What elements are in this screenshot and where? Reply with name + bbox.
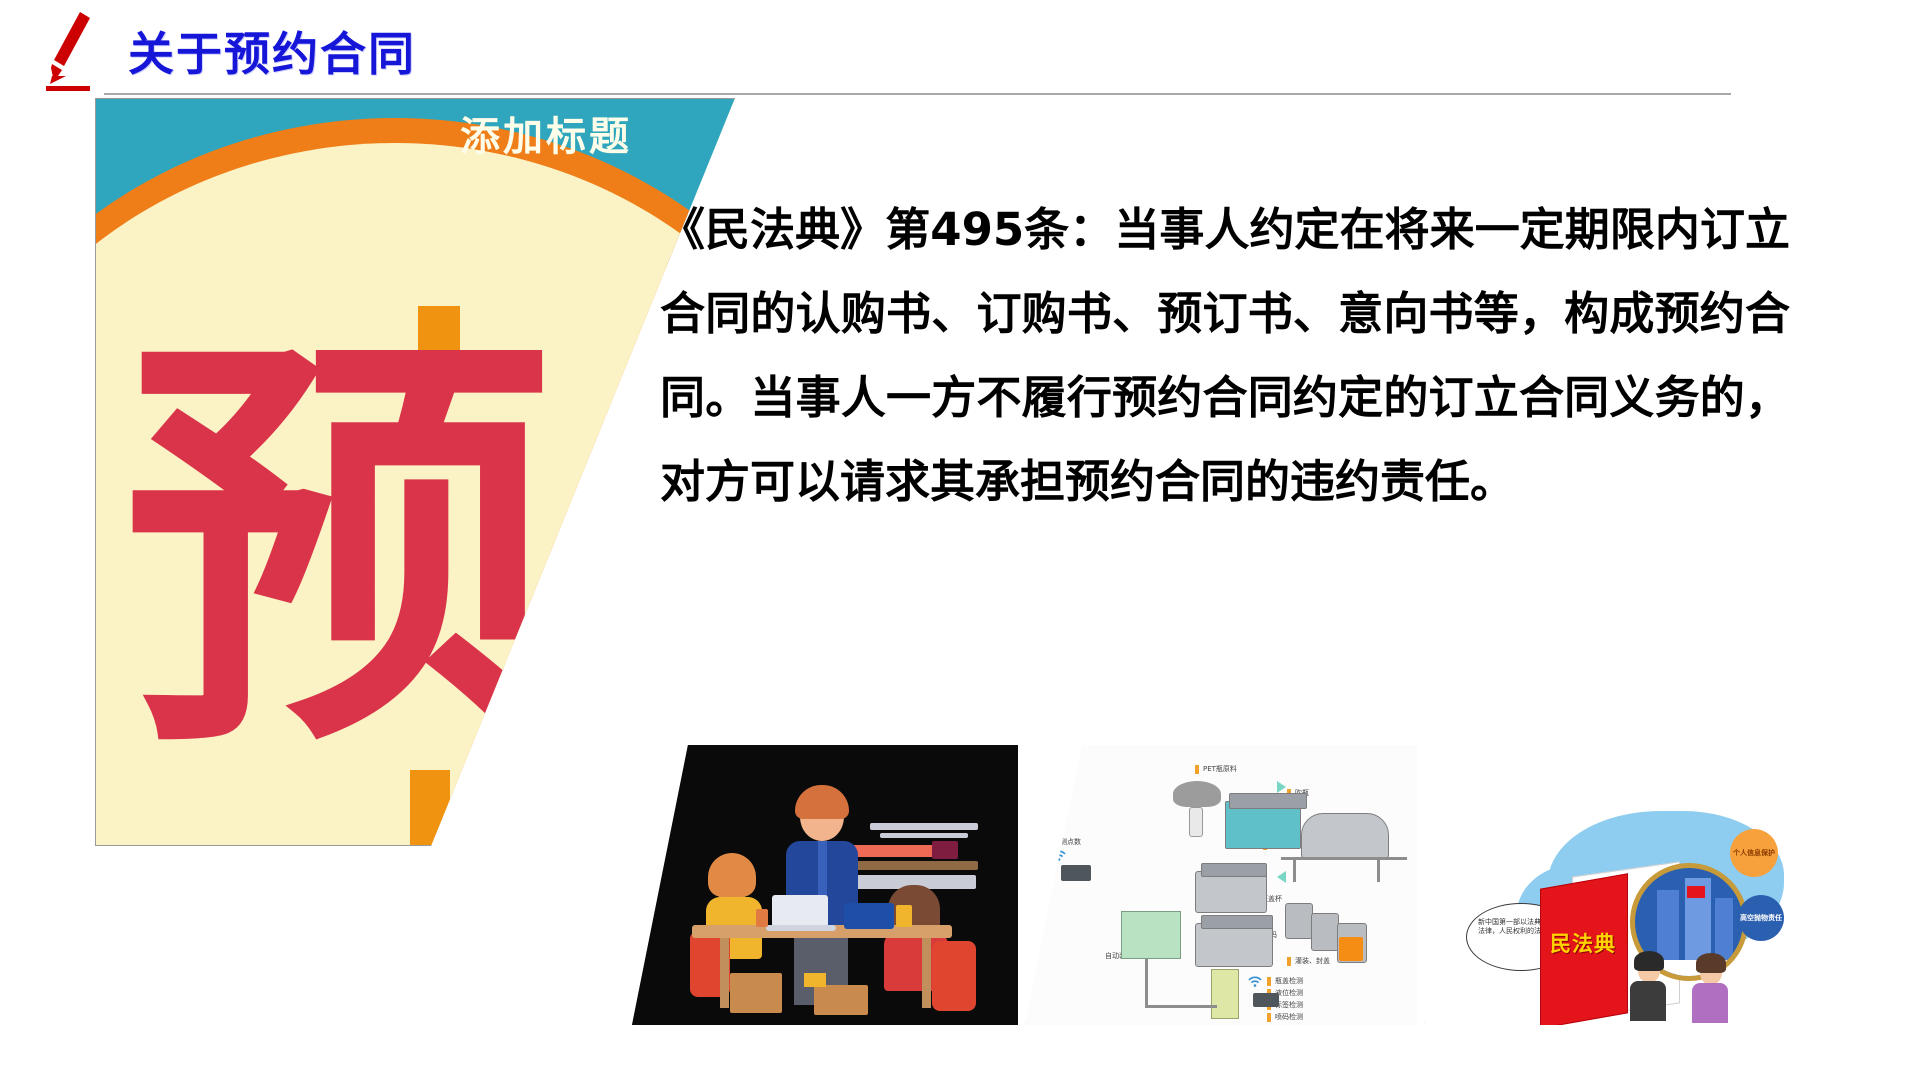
photo1-tablet	[844, 903, 894, 929]
photo3-person-right-hair	[1696, 953, 1726, 973]
photo2-camera-right	[1253, 993, 1279, 1007]
photo2-tank-2	[1311, 913, 1339, 951]
photo2-labeler-top	[1201, 863, 1267, 877]
photo2-label-inspect-point: 不检检测点数	[1039, 837, 1091, 847]
photo2-palletizer	[1121, 911, 1181, 959]
photo2-arrow-1	[1277, 781, 1286, 793]
photo2-bottle-icon	[1189, 807, 1203, 837]
photo2-line-across	[1145, 1005, 1217, 1008]
photo2-bullet-fill	[1287, 957, 1291, 966]
photo1-laptop	[772, 895, 828, 927]
photo3-badge-falling-object: 高空抛物责任	[1738, 895, 1784, 941]
photo2-camera-left	[1061, 865, 1091, 881]
photo1-desk-leg-left	[720, 938, 729, 1008]
photo2-label-fill: 灌装、封盖	[1295, 956, 1330, 966]
photo2-conveyor-tunnel	[1301, 813, 1389, 859]
photo2-capper	[1195, 923, 1273, 967]
photo3-badge-privacy: 个人信息保护	[1730, 829, 1778, 877]
photo2-wifi-icon-right	[1247, 975, 1263, 987]
photo2-blow-molder-top	[1229, 793, 1307, 809]
photo3-person-right-body	[1692, 983, 1728, 1023]
photo1-pen-holder	[756, 909, 768, 927]
photo2-bullet-cap-insp	[1267, 977, 1271, 986]
photo2-tank-1	[1285, 903, 1313, 939]
photo2-capper-top	[1201, 915, 1273, 929]
page-title: 关于预约合同	[128, 18, 416, 84]
photo2-juice-tank	[1339, 937, 1363, 961]
photo2-bullet-code-insp	[1267, 1013, 1271, 1022]
cover-glyph: 预	[123, 336, 683, 766]
photo1-box-left	[730, 973, 782, 1013]
photo2-conveyor-leg-1	[1293, 860, 1296, 882]
photo1-person-left-hair	[708, 853, 756, 897]
photo1-shelf-top	[870, 823, 978, 830]
photo2-raw-pile	[1173, 781, 1221, 807]
photo2-labeler	[1195, 871, 1267, 913]
photo2-conveyor-leg-2	[1377, 860, 1380, 882]
photo3-person-left-body	[1630, 981, 1666, 1021]
photo1-chair-right	[932, 941, 976, 1011]
photo2-label-code-inspection: 喷码检测	[1275, 1012, 1303, 1022]
photo2-conveyor-1	[1281, 857, 1407, 860]
photo2-label-raw: PET瓶原料	[1203, 764, 1237, 774]
photo-civil-code[interactable]: 新中国第一部以法典命名的法律，人民权利的法律宝典 民法典 个人信息保护 高空抛物…	[1424, 745, 1816, 1025]
photo2-label-level-inspection: 液位检测	[1275, 988, 1303, 998]
photo1-cup	[896, 905, 912, 927]
photo2-label-label-inspection: 标签检测	[1275, 1000, 1303, 1010]
photo2-laser-unit	[1211, 969, 1239, 1019]
pencil-icon	[40, 10, 102, 92]
header-divider	[104, 93, 1731, 95]
photo3-tower-sign	[1687, 886, 1705, 898]
photo-production-flow[interactable]: PET瓶原料 吹瓶 贴标 压盖杯 灌装、封盖 激光喷码 自动装箱／码箱堆垛 不检…	[1025, 745, 1417, 1025]
photo2-wifi-icon-left	[1051, 849, 1067, 861]
photo3-person-left-hair	[1634, 951, 1664, 971]
photo1-box-right	[814, 985, 868, 1015]
photo1-desk-leg-right	[922, 938, 931, 1008]
photo1-book-stack	[932, 841, 958, 859]
photo2-line-down	[1145, 959, 1148, 1007]
photo1-shelf-mid	[880, 833, 968, 838]
photo2-bullet-raw	[1195, 765, 1199, 774]
photo2-label-cap-inspection: 瓶盖检测	[1275, 976, 1303, 986]
photo2-arrow-2	[1277, 871, 1286, 883]
placeholder-title[interactable]: 添加标题	[460, 104, 632, 162]
cover-figure: 预	[95, 98, 735, 846]
photo-office-meeting[interactable]	[632, 745, 1018, 1025]
body-paragraph[interactable]: 《民法典》第495条：当事人约定在将来一定期限内订立合同的认购书、订购书、预订书…	[660, 188, 1790, 524]
photo1-box-tape	[804, 973, 826, 987]
photo3-book-title: 民法典	[1550, 933, 1616, 955]
slide-canvas: 关于预约合同 预 添加标题 《民法典》第495条：当事人约定在将来一定期限内订立…	[0, 0, 1920, 1080]
photo1-laptop-base	[766, 925, 836, 931]
slide-header: 关于预约合同	[0, 0, 1920, 98]
